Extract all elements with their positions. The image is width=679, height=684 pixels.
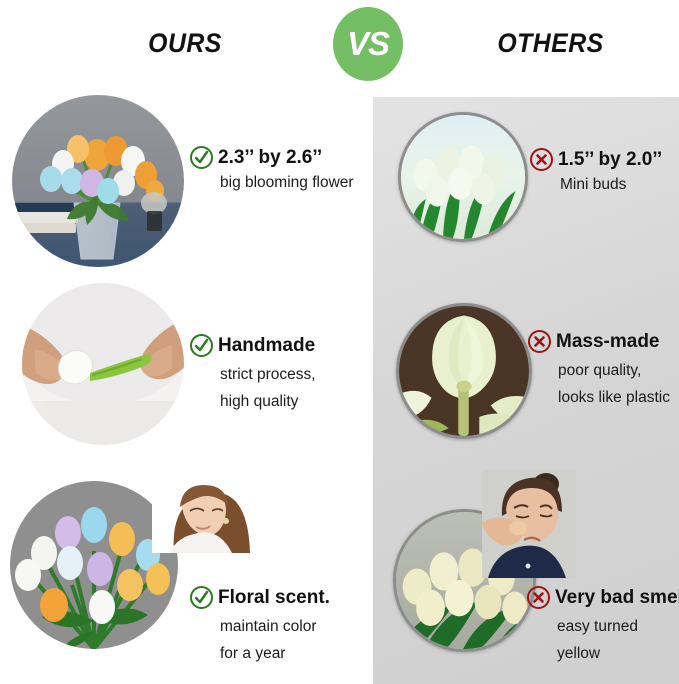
others-row1-image xyxy=(398,112,528,242)
ours-row2-image xyxy=(22,283,184,445)
others-row2-subline-2: looks like plastic xyxy=(558,389,670,407)
others-row3-inset-image xyxy=(482,470,576,578)
woman-pinching-nose-illustration xyxy=(482,470,576,578)
column-header-ours: OURS xyxy=(134,28,235,59)
woman-smelling-flowers-illustration xyxy=(152,477,252,553)
others-row1-headline: 1.5’’ by 2.0’’ xyxy=(558,149,662,171)
ours-row2-subline-2: high quality xyxy=(220,393,316,411)
ours-row1-headline-row: 2.3’’ by 2.6’’ xyxy=(190,146,354,169)
ours-row3-inset-image xyxy=(152,477,252,553)
others-row3-headline: Very bad smell xyxy=(555,587,679,609)
ours-row1-image xyxy=(12,95,184,267)
cross-icon xyxy=(530,148,553,171)
others-row3-headline-row: Very bad smell xyxy=(527,586,679,609)
ours-row2-subline-1: strict process, xyxy=(220,366,316,384)
ours-row3-headline-row: Floral scent. xyxy=(190,586,330,609)
white-tulip-buds-illustration xyxy=(401,115,525,239)
others-row3-subline-1: easy turned xyxy=(557,618,679,636)
ours-row1-text: 2.3’’ by 2.6’’ big blooming flower xyxy=(190,146,354,192)
others-row2-headline-row: Mass-made xyxy=(528,330,670,353)
handmade-hands-tulip-illustration xyxy=(22,283,184,445)
massmade-tulip-closeup-illustration xyxy=(399,306,529,436)
check-icon xyxy=(190,334,213,357)
others-row2-image xyxy=(396,303,532,439)
ours-row2-text: Handmade strict process, high quality xyxy=(190,334,316,411)
ours-row2-headline-row: Handmade xyxy=(190,334,316,357)
tulip-bouquet-vase-illustration xyxy=(12,95,184,267)
others-row2-headline: Mass-made xyxy=(556,331,660,353)
ours-row1-subline-1: big blooming flower xyxy=(220,174,354,192)
others-row1-subline-1: Mini buds xyxy=(560,176,662,194)
others-row3-text: Very bad smell easy turned yellow xyxy=(527,586,679,663)
others-row2-text: Mass-made poor quality, looks like plast… xyxy=(528,330,670,407)
others-row1-headline-row: 1.5’’ by 2.0’’ xyxy=(530,148,662,171)
others-row2-subline-1: poor quality, xyxy=(558,362,670,380)
others-row1-text: 1.5’’ by 2.0’’ Mini buds xyxy=(530,148,662,194)
ours-row3-headline: Floral scent. xyxy=(218,587,330,609)
cross-icon xyxy=(528,330,551,353)
comparison-infographic: OURS VS OTHERS xyxy=(0,0,679,684)
column-header-others: OTHERS xyxy=(484,28,617,59)
ours-row3-text: Floral scent. maintain color for a year xyxy=(190,586,330,663)
ours-row2-headline: Handmade xyxy=(218,335,315,357)
cross-icon xyxy=(527,586,550,609)
check-icon xyxy=(190,586,213,609)
check-icon xyxy=(190,146,213,169)
ours-row3-subline-2: for a year xyxy=(220,645,330,663)
ours-row1-headline: 2.3’’ by 2.6’’ xyxy=(218,147,322,169)
others-row3-subline-2: yellow xyxy=(557,645,679,663)
vs-badge: VS xyxy=(333,7,403,81)
ours-row3-subline-1: maintain color xyxy=(220,618,330,636)
